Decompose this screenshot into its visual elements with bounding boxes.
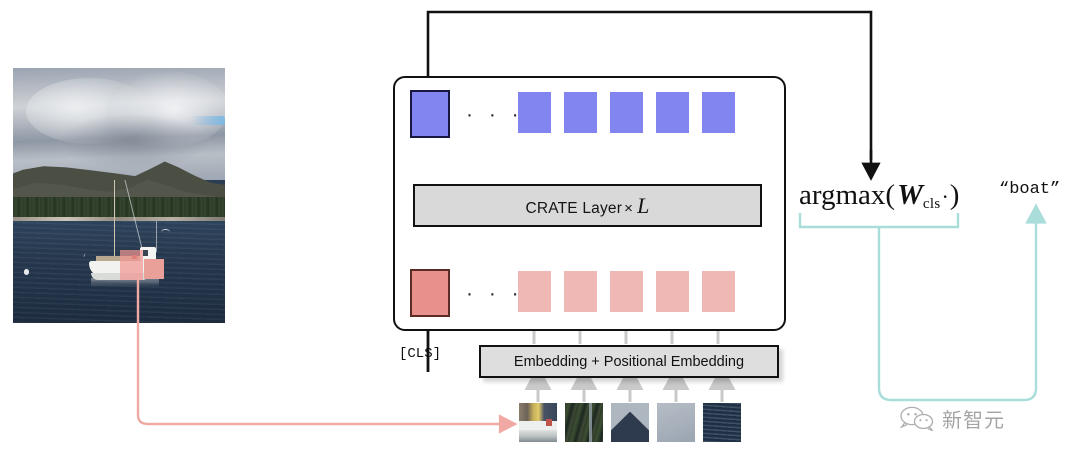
argmax-dot: · xyxy=(940,184,949,209)
layer-count-symbol: L xyxy=(635,193,649,218)
crate-layer-label-text: CRATE Layer xyxy=(525,200,622,217)
argmax-suffix: ) xyxy=(950,179,960,211)
output-token-5[interactable] xyxy=(702,92,735,133)
argmax-subscript: cls xyxy=(923,196,941,212)
input-token-2[interactable] xyxy=(564,271,597,312)
patch-detail xyxy=(589,403,592,442)
output-tokens-ellipsis: · · · xyxy=(466,104,524,125)
diagram-canvas: · · · · · · CRATE Layer×L [CLS] Embeddin… xyxy=(0,0,1080,461)
input-token-3[interactable] xyxy=(610,271,643,312)
argmax-matrix-symbol: W xyxy=(895,179,923,211)
multiply-symbol: × xyxy=(622,200,635,217)
cls-token-input[interactable] xyxy=(410,269,450,317)
input-token-4[interactable] xyxy=(656,271,689,312)
embedding-label: Embedding + Positional Embedding xyxy=(514,354,744,370)
watermark-text: 新智元 xyxy=(942,404,1005,433)
patch-water[interactable] xyxy=(703,403,741,442)
argmax-expression: argmax(Wcls·) xyxy=(799,179,959,213)
cls-token-label: [CLS] xyxy=(399,346,441,362)
patch-detail xyxy=(611,412,649,442)
output-token-4[interactable] xyxy=(656,92,689,133)
output-token-2[interactable] xyxy=(564,92,597,133)
argmax-prefix: argmax( xyxy=(799,179,895,211)
patch-foliage[interactable] xyxy=(565,403,603,442)
patch-detail xyxy=(519,430,557,442)
patch-detail xyxy=(703,403,741,442)
patches-to-embedding-arrows xyxy=(538,378,722,402)
output-token-3[interactable] xyxy=(610,92,643,133)
patch-detail xyxy=(565,403,603,442)
patch-detail xyxy=(546,419,552,427)
wechat-icon xyxy=(898,406,938,432)
cls-token-output[interactable] xyxy=(410,90,450,138)
patch-dark-peak[interactable] xyxy=(611,403,649,442)
predicted-label: “boat” xyxy=(999,180,1060,199)
crate-layer-label: CRATE Layer×L xyxy=(525,193,649,219)
watermark: 新智元 xyxy=(898,404,1005,433)
patch-sky[interactable] xyxy=(657,403,695,442)
input-token-5[interactable] xyxy=(702,271,735,312)
embedding-block[interactable]: Embedding + Positional Embedding xyxy=(479,345,779,378)
patch-boat-hull[interactable] xyxy=(519,403,557,442)
argmax-to-prediction-route xyxy=(800,213,1036,400)
crate-layer-block[interactable]: CRATE Layer×L xyxy=(413,184,762,227)
input-tokens-ellipsis: · · · xyxy=(466,283,524,304)
